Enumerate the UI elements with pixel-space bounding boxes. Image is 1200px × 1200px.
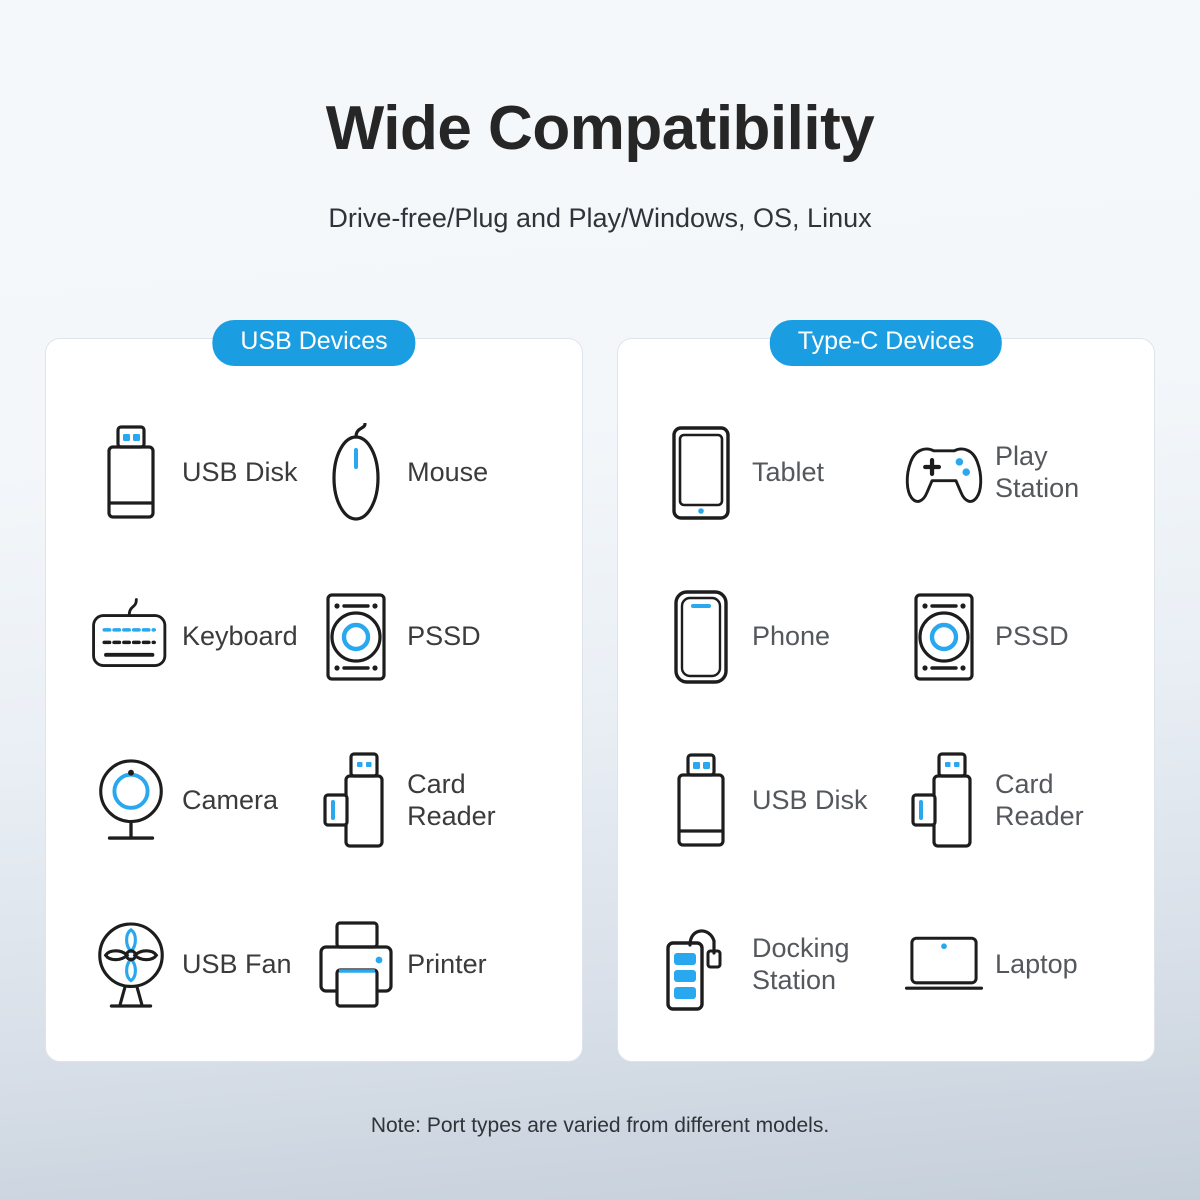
- card-reader-icon: [903, 751, 985, 851]
- usb-fan-icon: [90, 917, 172, 1013]
- usb-disk-icon: [90, 423, 172, 523]
- device-label: Card Reader: [985, 769, 1084, 833]
- device-item-laptop[interactable]: Laptop: [885, 929, 1154, 1001]
- device-row: Camera C: [46, 719, 582, 883]
- card-reader-icon: [315, 751, 397, 851]
- panel-badge-typec: Type-C Devices: [770, 320, 1002, 366]
- footer-note: Note: Port types are varied from differe…: [0, 1114, 1200, 1138]
- laptop-icon: [903, 929, 985, 1001]
- device-label: Keyboard: [172, 621, 298, 653]
- device-row: Keyboard: [46, 555, 582, 719]
- device-row: USB Fan Printer: [46, 883, 582, 1047]
- device-label: Camera: [172, 785, 278, 817]
- device-item-pssd[interactable]: PSSD: [303, 591, 582, 683]
- device-label: Card Reader: [397, 769, 496, 833]
- device-label: Tablet: [742, 457, 824, 489]
- device-row: Docking Station Laptop: [618, 883, 1154, 1047]
- device-item-mouse[interactable]: Mouse: [303, 423, 582, 523]
- pssd-icon: [315, 591, 397, 683]
- device-item-usb-disk[interactable]: USB Disk: [618, 751, 885, 851]
- device-label: USB Disk: [742, 785, 868, 817]
- device-row: USB Disk: [618, 719, 1154, 883]
- page-title: Wide Compatibility: [0, 96, 1200, 161]
- page-subtitle: Drive-free/Plug and Play/Windows, OS, Li…: [0, 161, 1200, 234]
- pssd-icon: [903, 591, 985, 683]
- device-label: Play Station: [985, 441, 1079, 505]
- device-label: USB Fan: [172, 949, 292, 981]
- device-item-usb-fan[interactable]: USB Fan: [46, 917, 303, 1013]
- device-label: Printer: [397, 949, 487, 981]
- device-panels: USB Devices USB Dis: [45, 338, 1155, 1062]
- device-row: Phone: [618, 555, 1154, 719]
- usb-disk-icon: [660, 751, 742, 851]
- panel-usb-devices: USB Devices USB Dis: [45, 338, 583, 1062]
- device-item-usb-disk[interactable]: USB Disk: [46, 423, 303, 523]
- page-header: Wide Compatibility Drive-free/Plug and P…: [0, 0, 1200, 234]
- device-item-play-station[interactable]: Play Station: [885, 434, 1154, 512]
- device-item-card-reader[interactable]: Card Reader: [303, 751, 582, 851]
- docking-station-icon: [660, 917, 742, 1013]
- device-item-pssd[interactable]: PSSD: [885, 591, 1154, 683]
- device-row: USB Disk Mouse: [46, 391, 582, 555]
- device-item-printer[interactable]: Printer: [303, 920, 582, 1010]
- device-item-card-reader[interactable]: Card Reader: [885, 751, 1154, 851]
- printer-icon: [315, 920, 397, 1010]
- device-item-tablet[interactable]: Tablet: [618, 425, 885, 521]
- webcam-icon: [90, 755, 172, 847]
- usb-device-rows: USB Disk Mouse: [46, 339, 582, 1047]
- device-label: PSSD: [985, 621, 1069, 653]
- device-item-phone[interactable]: Phone: [618, 589, 885, 685]
- tablet-icon: [660, 425, 742, 521]
- device-label: USB Disk: [172, 457, 298, 489]
- device-label: Phone: [742, 621, 830, 653]
- typec-device-rows: Tablet Play Station: [618, 339, 1154, 1047]
- phone-icon: [660, 589, 742, 685]
- device-label: Docking Station: [742, 933, 850, 997]
- panel-badge-usb: USB Devices: [212, 320, 415, 366]
- mouse-icon: [315, 423, 397, 523]
- device-label: PSSD: [397, 621, 481, 653]
- device-label: Laptop: [985, 949, 1078, 981]
- device-item-docking-station[interactable]: Docking Station: [618, 917, 885, 1013]
- device-item-keyboard[interactable]: Keyboard: [46, 591, 303, 683]
- keyboard-icon: [90, 591, 172, 683]
- panel-typec-devices: Type-C Devices Tablet: [617, 338, 1155, 1062]
- device-label: Mouse: [397, 457, 488, 489]
- device-item-camera[interactable]: Camera: [46, 755, 303, 847]
- device-row: Tablet Play Station: [618, 391, 1154, 555]
- compatibility-page: Wide Compatibility Drive-free/Plug and P…: [0, 0, 1200, 1200]
- gamepad-icon: [903, 434, 985, 512]
